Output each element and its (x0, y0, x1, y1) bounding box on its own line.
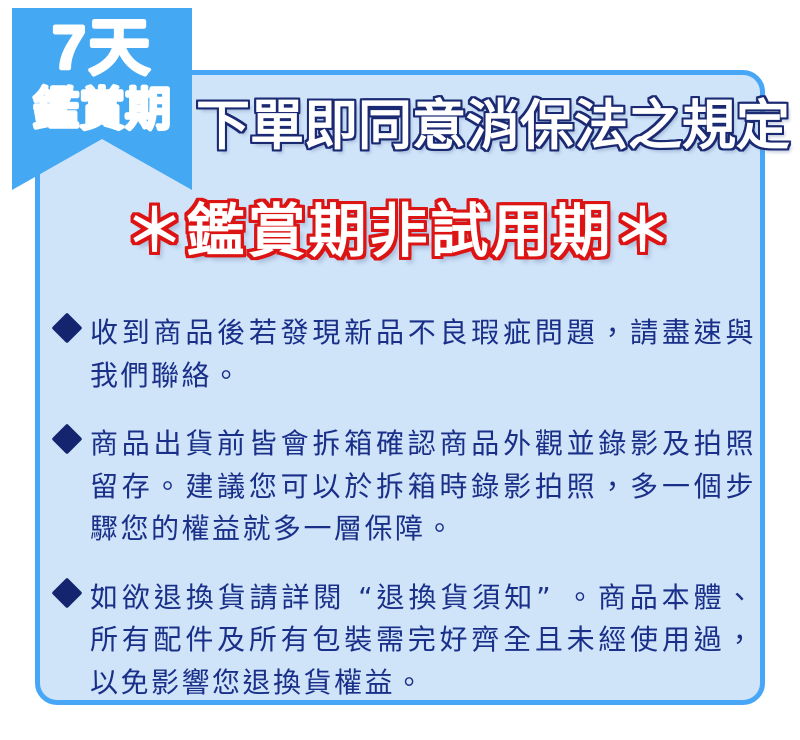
list-item-text: 如欲退換貨請詳閱 “退換貨須知” 。商品本體、所有配件及所有包裝需完好齊全且未經… (90, 577, 756, 705)
promo-poster: 7天 鑑賞期 下單即同意消保法之規定 ＊鑑賞期非試用期＊ 收到商品後若發現新品不… (0, 0, 800, 740)
diamond-bullet-icon (51, 312, 82, 343)
list-item-text: 商品出貨前皆會拆箱確認商品外觀並錄影及拍照留存。建議您可以於拆箱時錄影拍照，多一… (90, 423, 756, 551)
headline-consumer-protection: 下單即同意消保法之規定 (196, 98, 776, 155)
list-item: 商品出貨前皆會拆箱確認商品外觀並錄影及拍照留存。建議您可以於拆箱時錄影拍照，多一… (56, 423, 756, 551)
diamond-bullet-icon (51, 577, 82, 608)
list-item-text: 收到商品後若發現新品不良瑕疵問題，請盡速與我們聯絡。 (90, 312, 756, 397)
subheadline-not-trial-period: ＊鑑賞期非試用期＊ (35, 202, 765, 263)
list-item: 如欲退換貨請詳閱 “退換貨須知” 。商品本體、所有配件及所有包裝需完好齊全且未經… (56, 577, 756, 705)
notice-bullet-list: 收到商品後若發現新品不良瑕疵問題，請盡速與我們聯絡。 商品出貨前皆會拆箱確認商品… (56, 312, 756, 704)
diamond-bullet-icon (51, 424, 82, 455)
ribbon-line-days: 7天 (52, 18, 152, 80)
ribbon-line-period: 鑑賞期 (33, 86, 171, 132)
list-item: 收到商品後若發現新品不良瑕疵問題，請盡速與我們聯絡。 (56, 312, 756, 397)
